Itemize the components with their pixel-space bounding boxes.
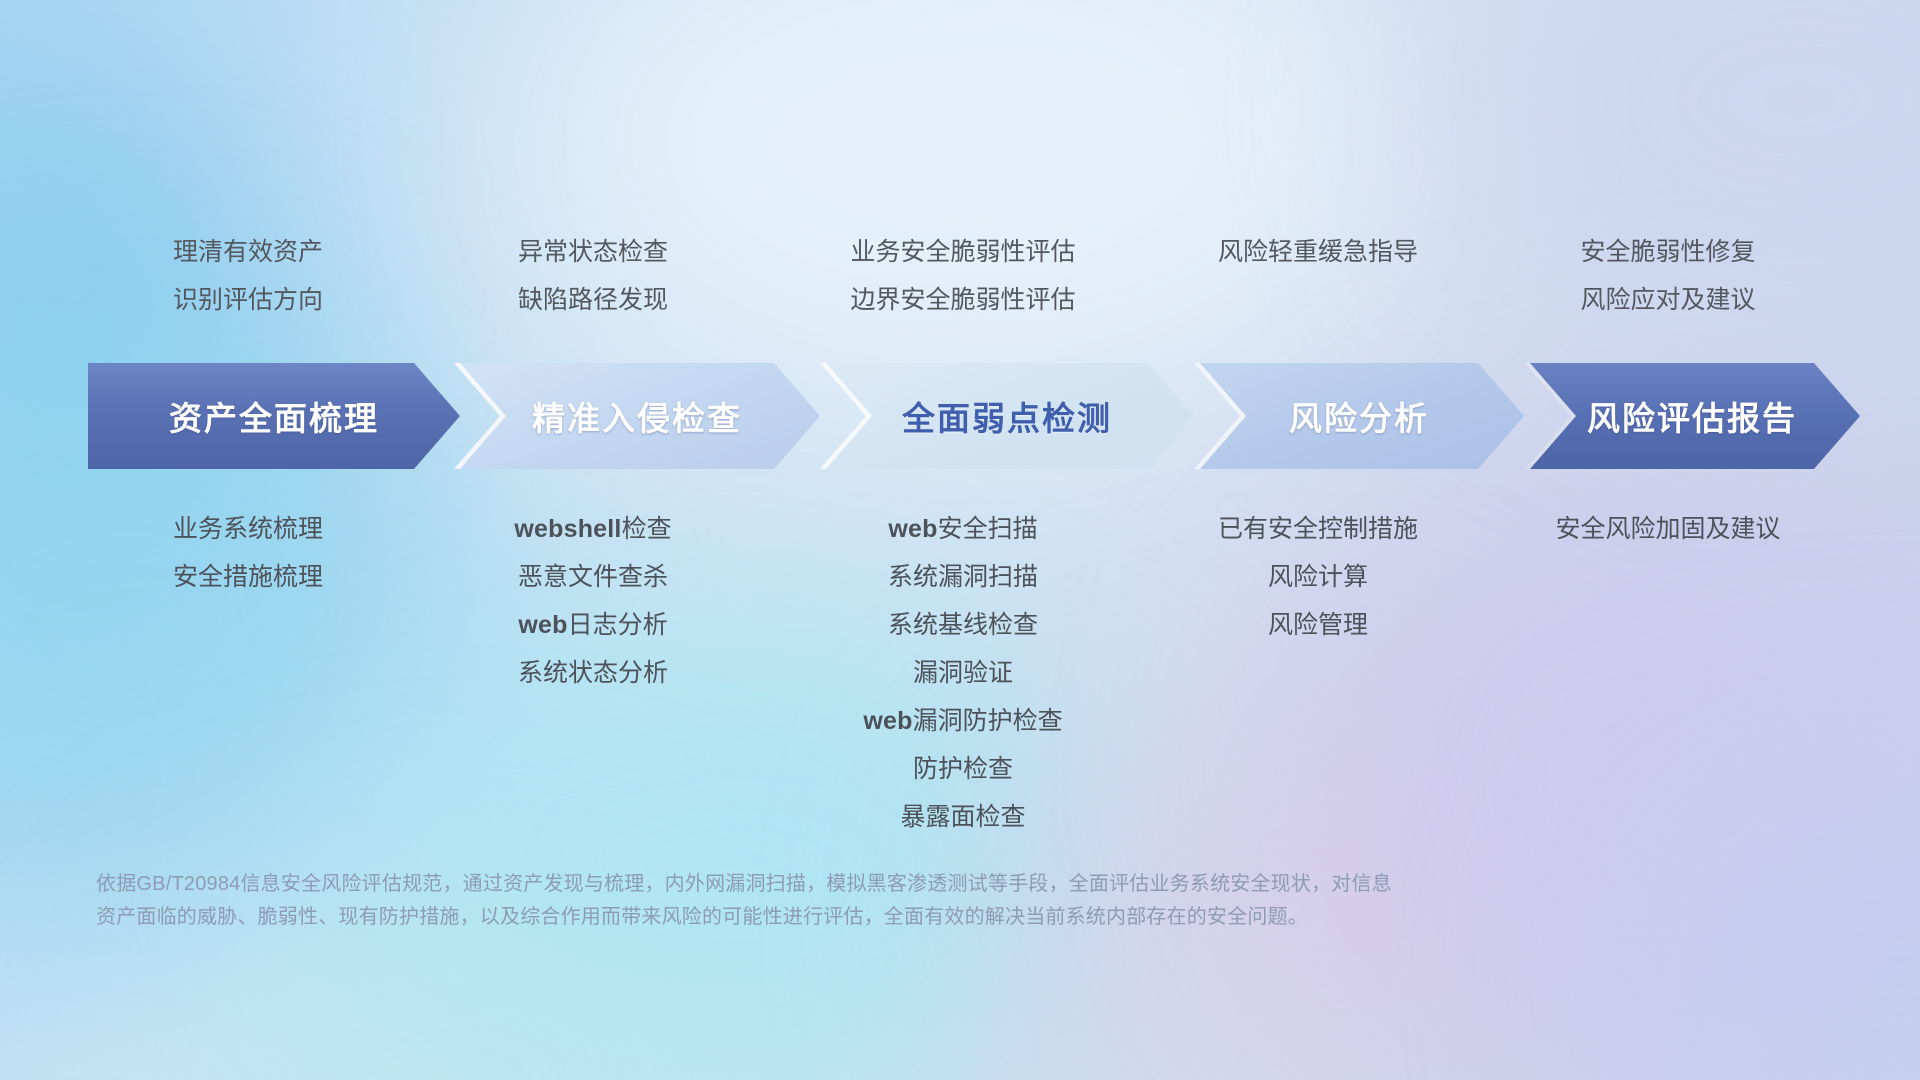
footer-line-2: 资产面临的威胁、脆弱性、现有防护措施，以及综合作用而带来风险的可能性进行评估，全…: [96, 901, 1656, 934]
stage-1-task-2: 安全措施梳理: [88, 553, 408, 601]
stage-chevron-4[interactable]: 风险分析: [1194, 363, 1524, 469]
stage-3-tasks: web安全扫描 系统漏洞扫描 系统基线检查 漏洞验证 web漏洞防护检查 防护检…: [778, 505, 1148, 841]
stage-3-task-6: 防护检查: [778, 745, 1148, 793]
stage-4-label: 风险分析: [1289, 392, 1429, 440]
stage-1-task-1: 业务系统梳理: [88, 505, 408, 553]
stage-chevron-1[interactable]: 资产全面梳理: [88, 363, 460, 469]
stage-tasks-row: 业务系统梳理 安全措施梳理 webshell检查 恶意文件查杀 web日志分析 …: [88, 505, 1848, 841]
footer-line-1: 依据GB/T20984信息安全风险评估规范，通过资产发现与梳理，内外网漏洞扫描，…: [96, 868, 1656, 901]
stage-3-task-2: 系统漏洞扫描: [778, 553, 1148, 601]
diagram-content: 理清有效资产 识别评估方向 异常状态检查 缺陷路径发现 业务安全脆弱性评估 边界…: [0, 0, 1920, 1080]
stage-3-task-3: 系统基线检查: [778, 601, 1148, 649]
stage-1-outcome-1: 理清有效资产: [88, 228, 408, 276]
stage-5-outcomes: 安全脆弱性修复 风险应对及建议: [1488, 228, 1848, 324]
stage-3-outcomes: 业务安全脆弱性评估 边界安全脆弱性评估: [778, 228, 1148, 324]
stage-3-label: 全面弱点检测: [902, 392, 1112, 440]
stage-chevron-2[interactable]: 精准入侵检查: [454, 363, 820, 469]
stage-4-outcome-1: 风险轻重缓急指导: [1148, 228, 1488, 276]
stage-5-outcome-2: 风险应对及建议: [1488, 276, 1848, 324]
stage-5-outcome-1: 安全脆弱性修复: [1488, 228, 1848, 276]
stage-2-task-1: webshell检查: [408, 505, 778, 553]
stage-4-outcomes: 风险轻重缓急指导: [1148, 228, 1488, 276]
stage-2-task-2: 恶意文件查杀: [408, 553, 778, 601]
stage-2-label: 精准入侵检查: [532, 392, 742, 440]
stage-3-task-1: web安全扫描: [778, 505, 1148, 553]
stage-1-outcome-2: 识别评估方向: [88, 276, 408, 324]
stage-2-task-3: web日志分析: [408, 601, 778, 649]
stage-5-tasks: 安全风险加固及建议: [1488, 505, 1848, 553]
slide-canvas: 理清有效资产 识别评估方向 异常状态检查 缺陷路径发现 业务安全脆弱性评估 边界…: [0, 0, 1920, 1080]
stage-chevron-5[interactable]: 风险评估报告: [1524, 363, 1860, 469]
process-chevron-band: 资产全面梳理 精准入侵检查 全面弱点检测 风险分析 风险评估报告: [88, 363, 1860, 469]
stage-chevron-3[interactable]: 全面弱点检测: [820, 363, 1194, 469]
footer-description: 依据GB/T20984信息安全风险评估规范，通过资产发现与梳理，内外网漏洞扫描，…: [96, 868, 1656, 934]
stage-2-task-4: 系统状态分析: [408, 649, 778, 697]
stage-2-outcome-1: 异常状态检查: [408, 228, 778, 276]
stage-4-tasks: 已有安全控制措施 风险计算 风险管理: [1148, 505, 1488, 649]
stage-3-outcome-1: 业务安全脆弱性评估: [778, 228, 1148, 276]
stage-1-outcomes: 理清有效资产 识别评估方向: [88, 228, 408, 324]
stage-1-tasks: 业务系统梳理 安全措施梳理: [88, 505, 408, 601]
stage-2-outcome-2: 缺陷路径发现: [408, 276, 778, 324]
stage-4-task-3: 风险管理: [1148, 601, 1488, 649]
stage-4-task-1: 已有安全控制措施: [1148, 505, 1488, 553]
stage-2-tasks: webshell检查 恶意文件查杀 web日志分析 系统状态分析: [408, 505, 778, 697]
stage-5-label: 风险评估报告: [1587, 392, 1797, 440]
stage-3-task-7: 暴露面检查: [778, 793, 1148, 841]
stage-1-label: 资产全面梳理: [169, 392, 379, 440]
stage-4-task-2: 风险计算: [1148, 553, 1488, 601]
stage-3-task-4: 漏洞验证: [778, 649, 1148, 697]
stage-3-task-5: web漏洞防护检查: [778, 697, 1148, 745]
stage-5-task-1: 安全风险加固及建议: [1488, 505, 1848, 553]
stage-2-outcomes: 异常状态检查 缺陷路径发现: [408, 228, 778, 324]
stage-outcomes-row: 理清有效资产 识别评估方向 异常状态检查 缺陷路径发现 业务安全脆弱性评估 边界…: [88, 228, 1848, 324]
stage-3-outcome-2: 边界安全脆弱性评估: [778, 276, 1148, 324]
